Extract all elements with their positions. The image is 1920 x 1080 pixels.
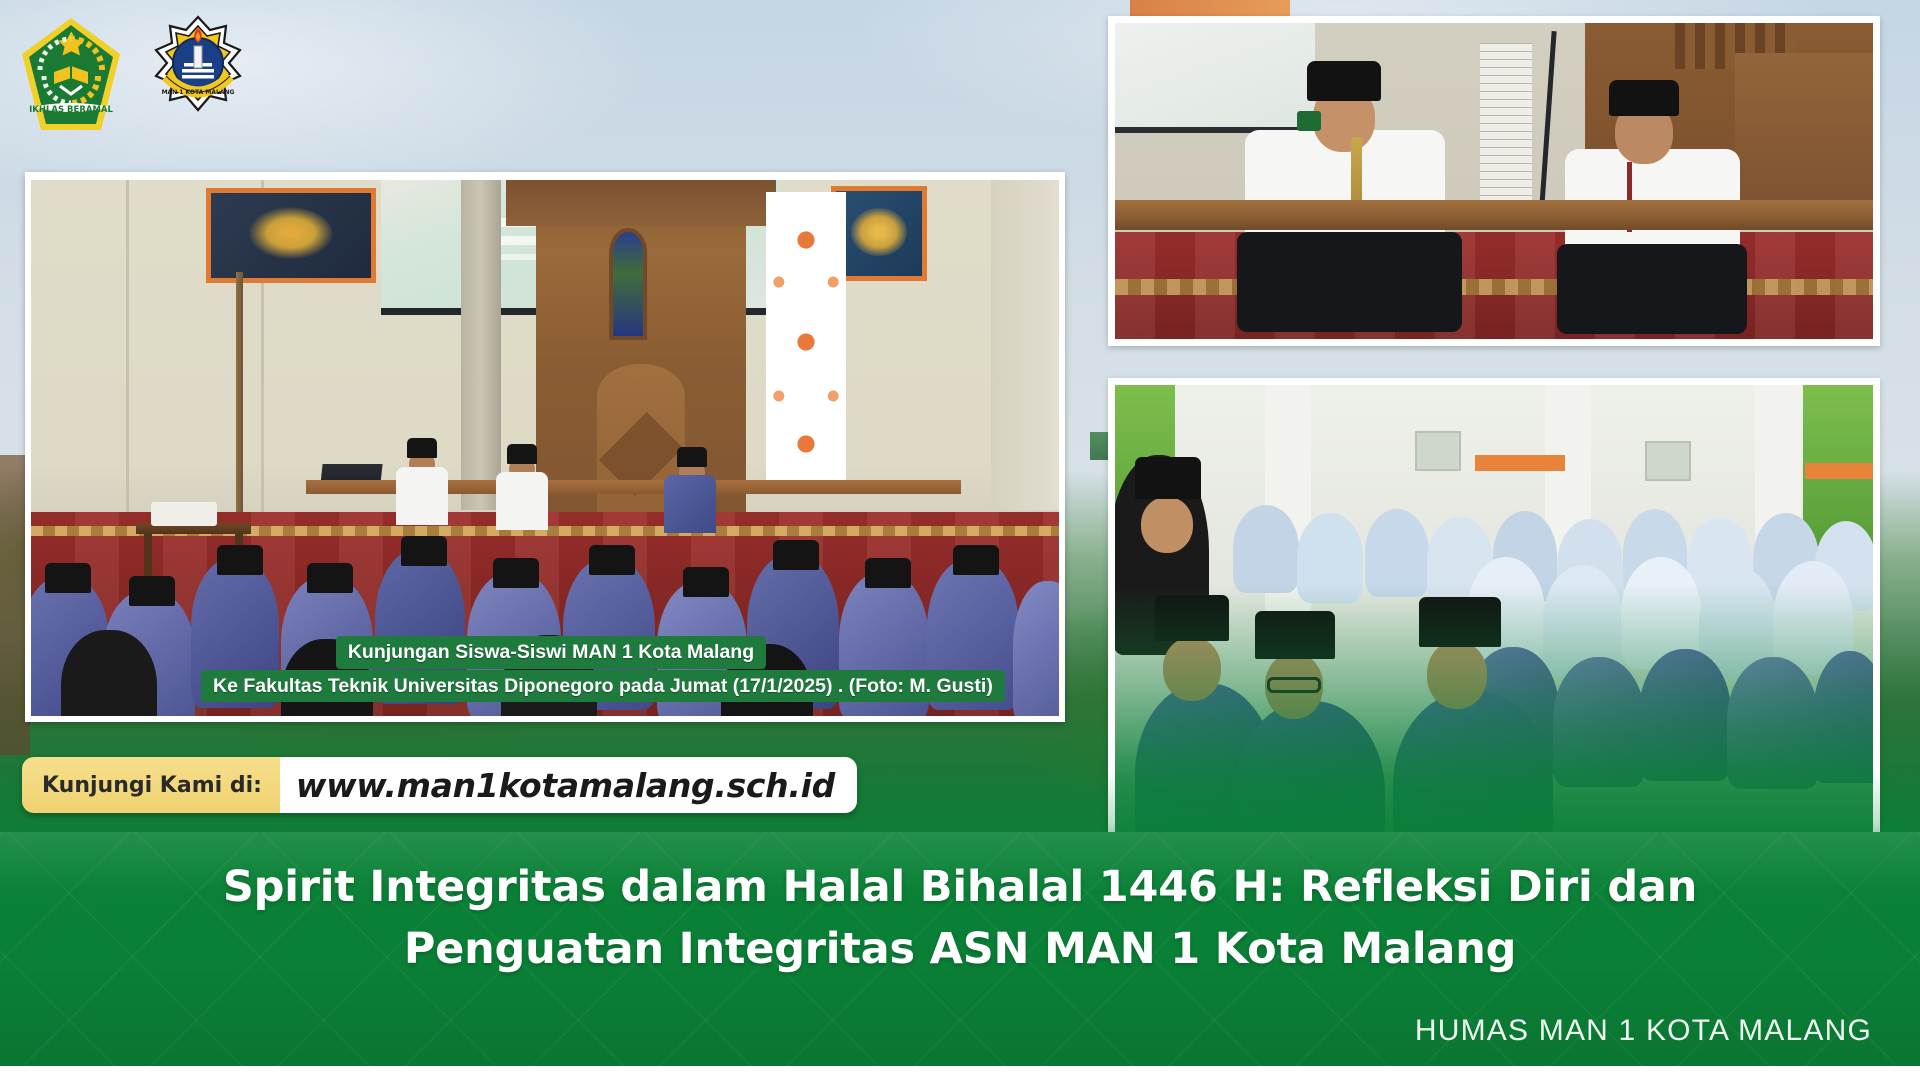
poster-canvas: IKHLAS BERAMAL MAN 1 KOTA MALANG — [0, 0, 1920, 1080]
logo-group: IKHLAS BERAMAL MAN 1 KOTA MALANG — [18, 14, 246, 134]
bottom-right-photo — [1108, 378, 1880, 858]
bottom-white-strip — [0, 1066, 1920, 1080]
bottom-right-photo-image — [1115, 385, 1873, 858]
kemenag-logo-motto: IKHLAS BERAMAL — [29, 105, 113, 115]
arabic-calligraphy-frame — [206, 188, 376, 283]
audience-crowd — [31, 491, 1059, 716]
page-title: Spirit Integritas dalam Halal Bihalal 14… — [0, 856, 1920, 981]
top-right-photo-image — [1115, 23, 1873, 339]
title-line-1: Spirit Integritas dalam Halal Bihalal 14… — [180, 856, 1740, 918]
geometric-ornament-panel — [766, 192, 846, 492]
title-line-2: Penguatan Integritas ASN MAN 1 Kota Mala… — [180, 918, 1740, 980]
main-photo-image: Kunjungan Siswa-Siswi MAN 1 Kota Malang … — [31, 180, 1059, 716]
website-label: Kunjungi Kami di: — [22, 757, 280, 813]
bottom-banner: Spirit Integritas dalam Halal Bihalal 14… — [0, 832, 1920, 1080]
credit-text: HUMAS MAN 1 KOTA MALANG — [1415, 1014, 1872, 1048]
man1-kota-malang-logo: MAN 1 KOTA MALANG — [150, 14, 246, 124]
man1-logo-motto: MAN 1 KOTA MALANG — [162, 89, 235, 96]
website-bar[interactable]: Kunjungi Kami di: www.man1kotamalang.sch… — [22, 757, 857, 813]
top-right-photo — [1108, 16, 1880, 346]
main-photo: Kunjungan Siswa-Siswi MAN 1 Kota Malang … — [25, 172, 1065, 722]
kemenag-logo: IKHLAS BERAMAL — [18, 14, 124, 134]
website-url[interactable]: www.man1kotamalang.sch.id — [280, 757, 857, 813]
